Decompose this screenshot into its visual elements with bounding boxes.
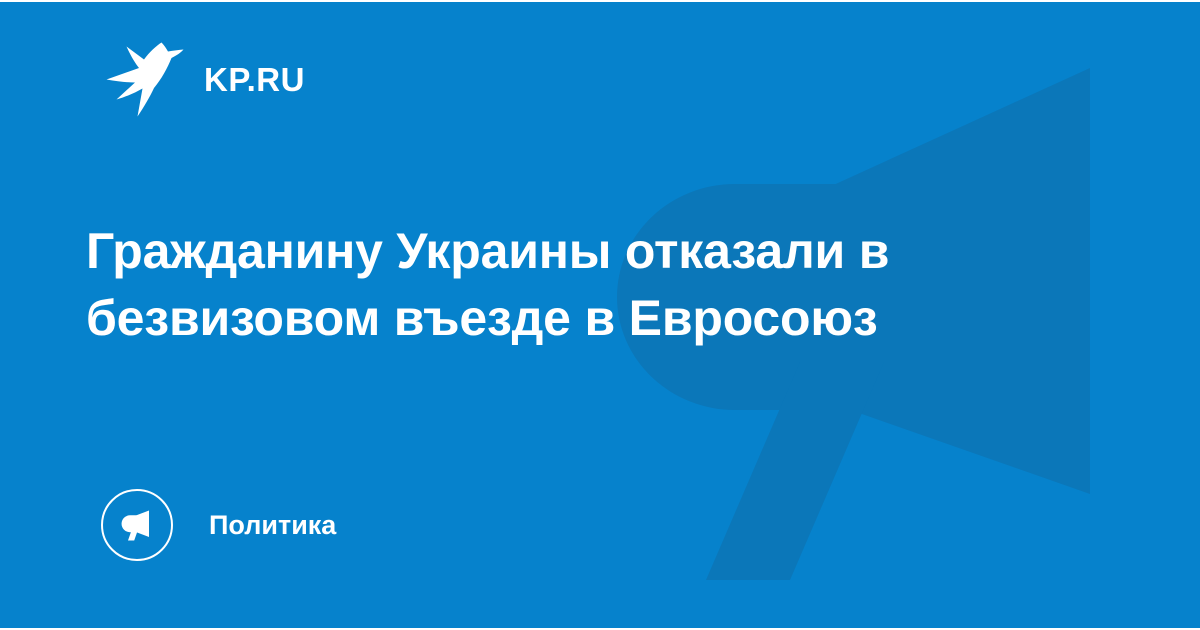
brand-logo[interactable]: KP.RU bbox=[104, 40, 305, 118]
megaphone-icon bbox=[118, 506, 156, 544]
rubric-badge[interactable] bbox=[101, 489, 173, 561]
brand-name: KP.RU bbox=[204, 63, 305, 96]
swallow-bird-icon bbox=[104, 40, 186, 118]
rubric[interactable]: Политика bbox=[101, 489, 336, 561]
page-title: Гражданину Украины отказали в безвизовом… bbox=[86, 218, 1106, 352]
social-share-card: KP.RU Гражданину Украины отказали в безв… bbox=[0, 0, 1200, 630]
rubric-label: Политика bbox=[209, 512, 336, 539]
